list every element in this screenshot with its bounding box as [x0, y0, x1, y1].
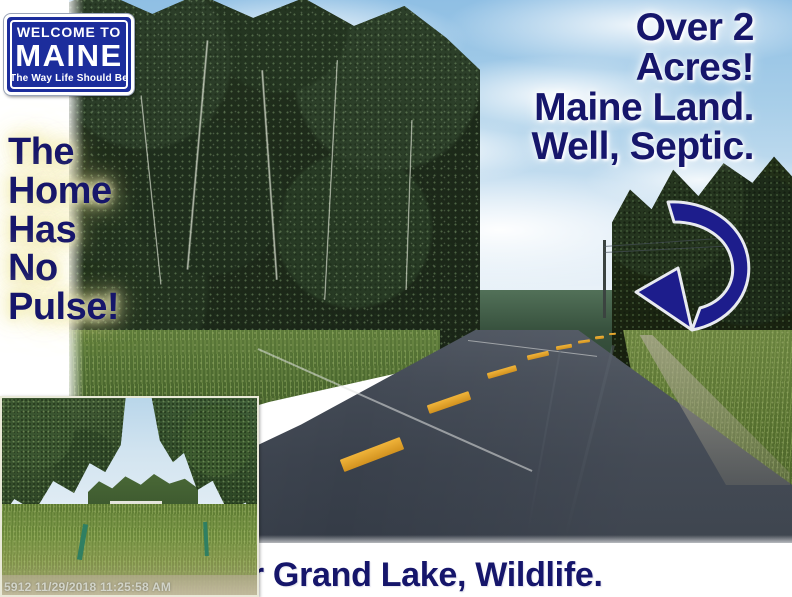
headline-acreage-features: Over 2 Acres! Maine Land. Well, Septic.	[531, 8, 754, 167]
inset-timestamp-watermark: 5912 11/29/2018 11:25:58 AM	[4, 580, 171, 594]
sign-welcome-text: WELCOME TO	[17, 25, 121, 39]
welcome-to-maine-sign: WELCOME TO MAINE The Way Life Should Be	[4, 14, 134, 95]
pointing-arrow-icon	[634, 196, 758, 332]
sign-slogan: The Way Life Should Be	[10, 74, 128, 84]
listing-photo-composite: Over 2 Acres! Maine Land. Well, Septic. …	[0, 0, 792, 597]
property-lot-inset-photo: 5912 11/29/2018 11:25:58 AM	[0, 396, 259, 597]
sign-state-name: MAINE	[15, 40, 122, 71]
headline-home-condition: The Home Has No Pulse!	[8, 133, 119, 327]
